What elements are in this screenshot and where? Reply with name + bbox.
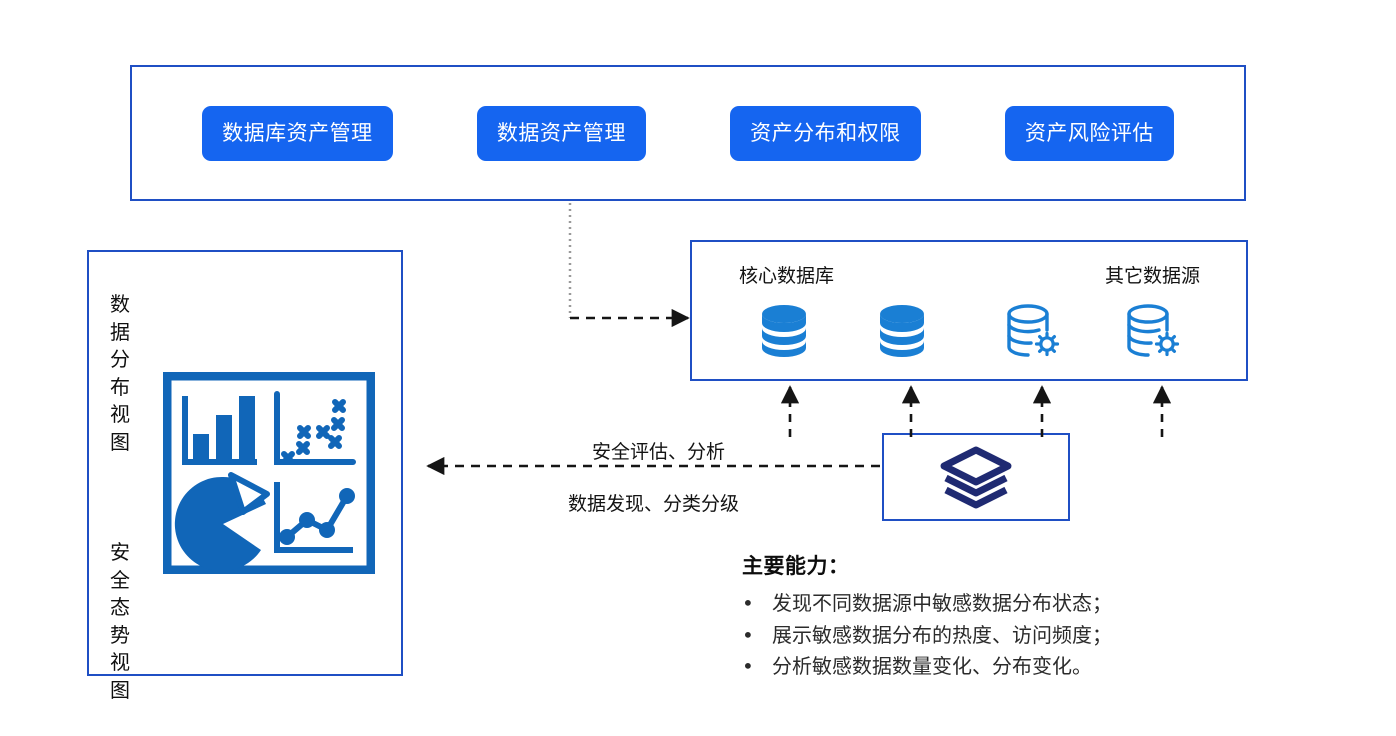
database-icon-core-1[interactable]	[752, 299, 816, 363]
capability-pill-bar: 数据库资产管理 数据资产管理 资产分布和权限 资产风险评估	[130, 65, 1246, 201]
label-security-posture-view: 安 全 态 势 视 图	[105, 540, 135, 706]
capability-item-2: • 展示敏感数据分布的热度、访问频度；	[742, 620, 1162, 652]
capability-item-3: • 分析敏感数据数量变化、分布变化。	[742, 651, 1162, 683]
database-icon-core-2[interactable]	[870, 299, 934, 363]
capability-item-1-text: 发现不同数据源中敏感数据分布状态；	[772, 588, 1112, 620]
pill-data-asset-management[interactable]: 数据资产管理	[477, 106, 646, 161]
view-panel: 数 据 分 布 视 图 安 全 态 势 视 图	[87, 250, 403, 676]
pie-chart-icon	[175, 475, 267, 571]
flow-label-data-discovery: 数据发现、分类分级	[568, 489, 739, 516]
database-gear-icon-other-2[interactable]	[1122, 299, 1186, 363]
datasource-group-label-other: 其它数据源	[1105, 261, 1200, 288]
pill-asset-distribution-permission[interactable]: 资产分布和权限	[730, 106, 921, 161]
layers-stack-icon	[936, 444, 1016, 510]
flow-label-security-assessment: 安全评估、分析	[592, 437, 725, 464]
datasource-group-label-core: 核心数据库	[739, 261, 834, 288]
main-capabilities-block: 主要能力： • 发现不同数据源中敏感数据分布状态； • 展示敏感数据分布的热度、…	[742, 550, 1162, 683]
line-chart-icon	[277, 482, 355, 550]
bar-chart-icon	[185, 396, 257, 462]
data-security-engine[interactable]	[882, 433, 1070, 521]
label-data-distribution-view: 数 据 分 布 视 图	[105, 292, 135, 458]
gear-icon	[1037, 334, 1058, 355]
capability-item-1: • 发现不同数据源中敏感数据分布状态；	[742, 588, 1162, 620]
bullet-icon: •	[742, 588, 772, 620]
bullet-icon: •	[742, 620, 772, 652]
scatter-plot-icon	[277, 394, 353, 462]
capability-item-2-text: 展示敏感数据分布的热度、访问频度；	[772, 620, 1112, 652]
capability-item-3-text: 分析敏感数据数量变化、分布变化。	[772, 651, 1092, 683]
pill-row: 数据库资产管理 数据资产管理 资产分布和权限 资产风险评估	[132, 67, 1244, 199]
gear-icon	[1157, 334, 1178, 355]
database-gear-icon-other-1[interactable]	[1002, 299, 1066, 363]
capabilities-heading: 主要能力：	[742, 550, 1162, 580]
diagram-canvas: 数据库资产管理 数据资产管理 资产分布和权限 资产风险评估 数 据 分 布 视 …	[0, 0, 1396, 736]
pill-database-asset-management[interactable]: 数据库资产管理	[202, 106, 393, 161]
bullet-icon: •	[742, 651, 772, 683]
analytics-dashboard-icon	[163, 372, 375, 574]
datasource-panel: 核心数据库 其它数据源	[690, 240, 1248, 381]
pill-asset-risk-assessment[interactable]: 资产风险评估	[1005, 106, 1174, 161]
